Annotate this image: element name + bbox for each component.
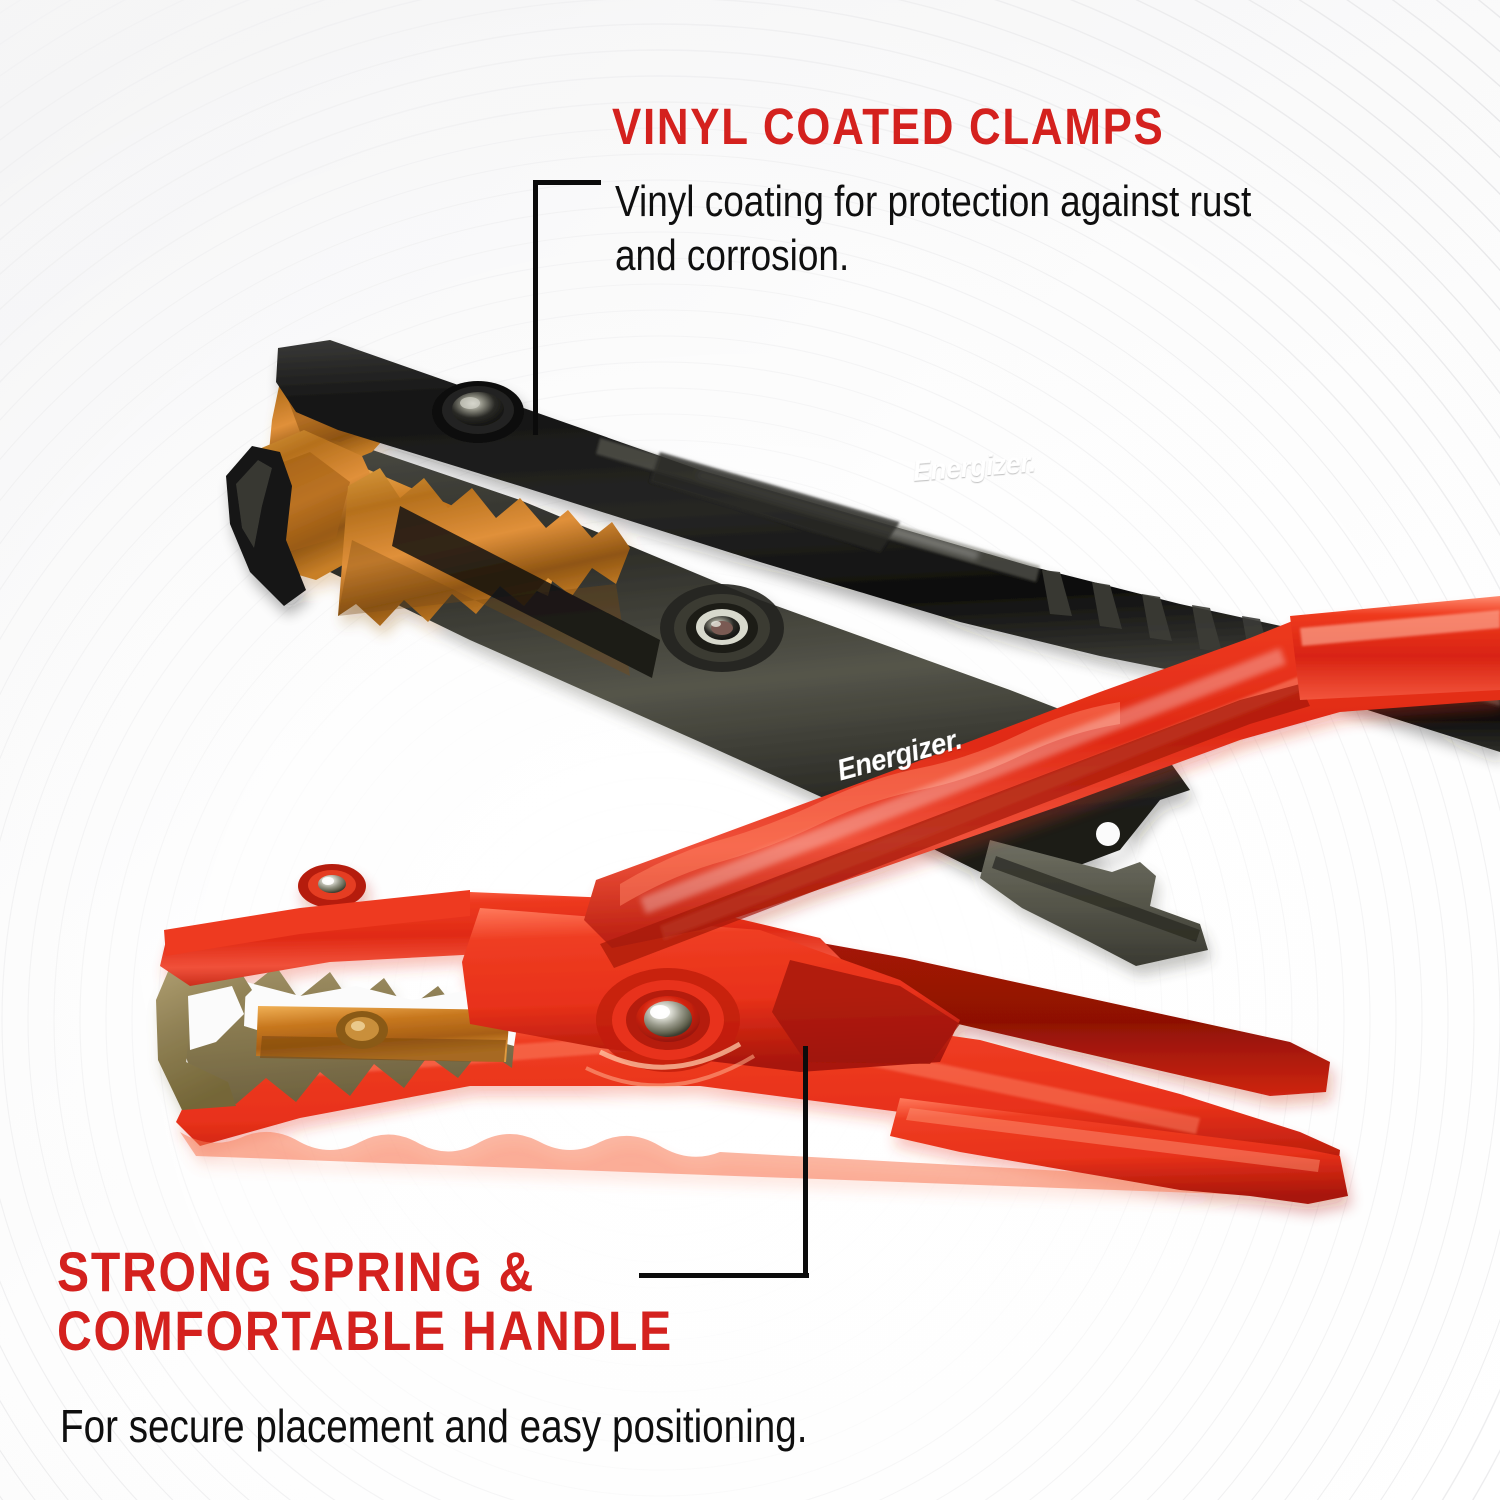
callout-top-body: Vinyl coating for protection against rus… xyxy=(615,175,1500,282)
callout-leader-bottom-vertical xyxy=(803,1046,808,1278)
callout-leader-top-vertical xyxy=(533,180,538,435)
red-clamp-upper-rivet xyxy=(298,864,366,908)
black-clamp-tail-gap xyxy=(1096,822,1120,846)
black-clamp-top-rivet xyxy=(432,381,524,443)
black-clamp-pivot-rivet xyxy=(660,584,784,672)
red-clamp-inner-rivet xyxy=(336,1011,388,1049)
callout-top-headline: VINYL COATED CLAMPS xyxy=(612,100,1165,154)
callout-bottom-headline: STRONG SPRING & COMFORTABLE HANDLE xyxy=(57,1242,673,1361)
red-clamp-cable xyxy=(1290,596,1500,700)
infographic-canvas: Energizer. Energizer. VINYL COATED CLAMP… xyxy=(0,0,1500,1500)
callout-bottom-body: For secure placement and easy positionin… xyxy=(60,1398,1110,1454)
callout-leader-top-horizontal xyxy=(533,180,601,185)
